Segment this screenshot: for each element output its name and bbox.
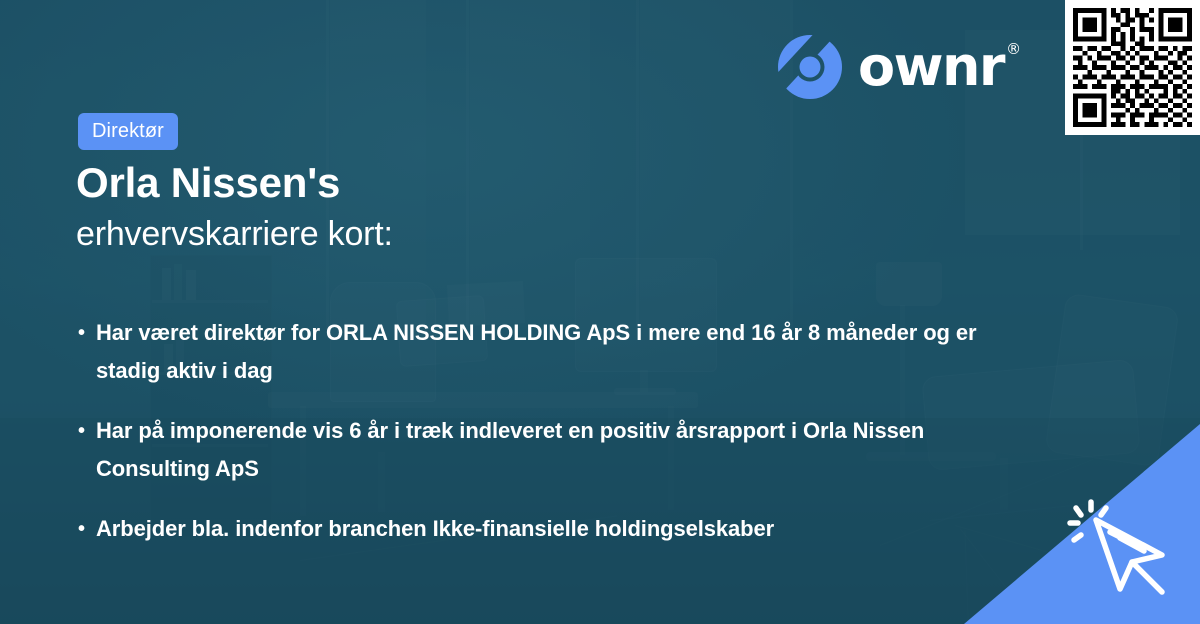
business-card-banner: ownr® Direktør Orla Nissen's erhvervskar…	[0, 0, 1200, 624]
list-item-text: Arbejder bla. indenfor branchen Ikke-fin…	[96, 510, 978, 548]
qr-code-panel[interactable]	[1065, 0, 1200, 135]
list-item: • Har på imponerende vis 6 år i træk ind…	[78, 412, 978, 488]
list-item: • Har været direktør for ORLA NISSEN HOL…	[78, 314, 978, 390]
ownr-wordmark-text: ownr	[858, 35, 1004, 98]
title-subtitle: erhvervskarriere kort:	[76, 210, 393, 258]
bullet-marker-icon: •	[78, 510, 96, 548]
page-title: Orla Nissen's erhvervskarriere kort:	[76, 156, 393, 258]
ownr-circle-swoosh-icon	[776, 33, 844, 101]
list-item-text: Har på imponerende vis 6 år i træk indle…	[96, 412, 978, 488]
role-badge: Direktør	[78, 113, 178, 150]
bullet-marker-icon: •	[78, 412, 96, 450]
list-item-text: Har været direktør for ORLA NISSEN HOLDI…	[96, 314, 978, 390]
title-person-name: Orla Nissen's	[76, 156, 393, 210]
click-cursor-icon	[1058, 488, 1182, 600]
bullet-marker-icon: •	[78, 314, 96, 352]
registered-trademark-icon: ®	[1006, 42, 1021, 57]
ownr-wordmark: ownr®	[858, 40, 1004, 94]
qr-code[interactable]	[1073, 8, 1192, 127]
ownr-logo: ownr®	[776, 33, 1004, 101]
career-highlights-list: • Har været direktør for ORLA NISSEN HOL…	[78, 314, 978, 548]
list-item: • Arbejder bla. indenfor branchen Ikke-f…	[78, 510, 978, 548]
